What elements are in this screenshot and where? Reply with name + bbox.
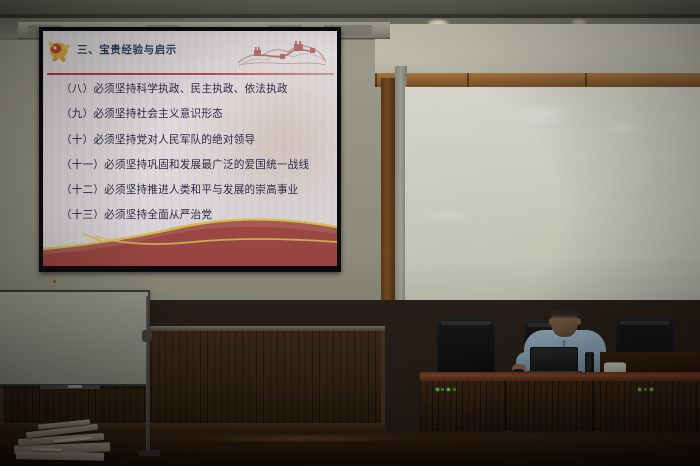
slide-bullet: （十一）必须坚持巩固和发展最广泛的爱国统一战线 [61,157,327,172]
slide-header-rule [47,73,334,75]
whiteboard-stand-foot [138,450,160,456]
desk-status-led [638,388,641,391]
slide-footer-graphic [43,208,337,266]
desk-status-led [447,388,450,391]
whiteboard-pivot-knob[interactable] [142,330,152,342]
laptop-computer[interactable] [530,347,578,372]
conference-room-screenshot: 江苏安全 SCREEN [0,0,700,466]
slide-bullet: （九）必须坚持社会主义意识形态 [61,106,327,121]
whiteboard-tray-label [68,385,82,388]
floor-reflection [180,436,420,441]
desk-status-led [644,388,647,391]
gold-emblem-icon [46,38,73,63]
desk-status-led [453,388,456,391]
desk-status-led [441,388,444,391]
upper-wall [375,24,700,76]
slide-bullet: （十）必须坚持党对人民军队的绝对领导 [61,132,327,147]
presenter-ear [577,318,581,325]
great-wall-motif-icon [236,36,328,68]
slide-title: 三、宝贵经验与启示 [77,42,177,57]
desk-panel-seam [505,381,507,431]
slide-surface: 三、宝贵经验与启示 [43,31,337,266]
stacked-papers [14,418,116,462]
wall-panel-right: 江苏安全 [405,87,700,302]
desk-panel-seam [592,381,594,431]
slide-header: 三、宝贵经验与启示 [43,31,337,75]
desk-status-led [650,388,653,391]
mobile-whiteboard[interactable] [0,290,150,386]
conference-desk-top [420,372,700,381]
whiteboard-stand-post[interactable] [146,296,150,454]
desk-status-led [436,388,439,391]
wall-marker-dot [53,280,56,283]
slide-bullet: （八）必须坚持科学执政、民主执政、依法执政 [61,81,327,96]
slide-bullet: （十二）必须坚持推进人类和平与发展的崇高事业 [61,182,327,197]
wood-trim-band [375,73,700,87]
presenter-ear [549,318,553,325]
conference-chair[interactable] [437,318,495,376]
projection-screen: 三、宝贵经验与启示 [39,27,341,272]
conference-desk-front [420,381,700,431]
